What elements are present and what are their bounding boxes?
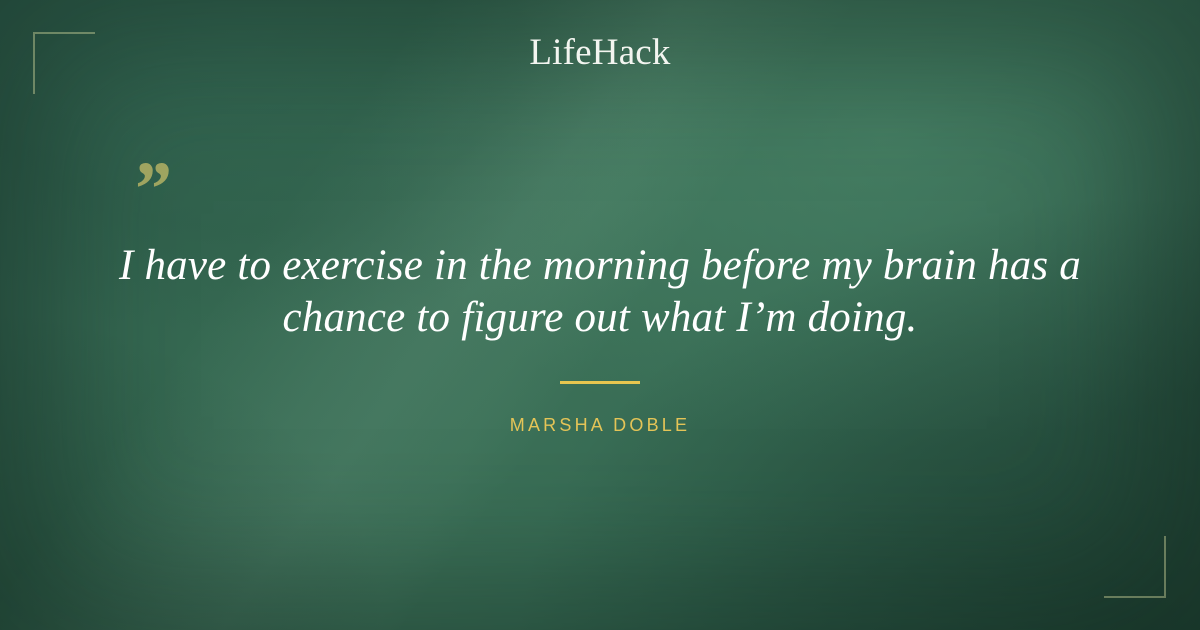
quote-block: I have to exercise in the morning before… [100,240,1100,344]
quote-author: MARSHA DOBLE [0,414,1200,436]
quote-line-2: chance to figure out what I’m doing. [100,292,1100,344]
quote-card: LifeHack ” I have to exercise in the mor… [0,0,1200,630]
attribution-divider [560,381,640,384]
brand-logo: LifeHack [0,34,1200,71]
quote-mark-icon: ” [131,150,170,228]
quote-line-1: I have to exercise in the morning before… [100,240,1100,292]
